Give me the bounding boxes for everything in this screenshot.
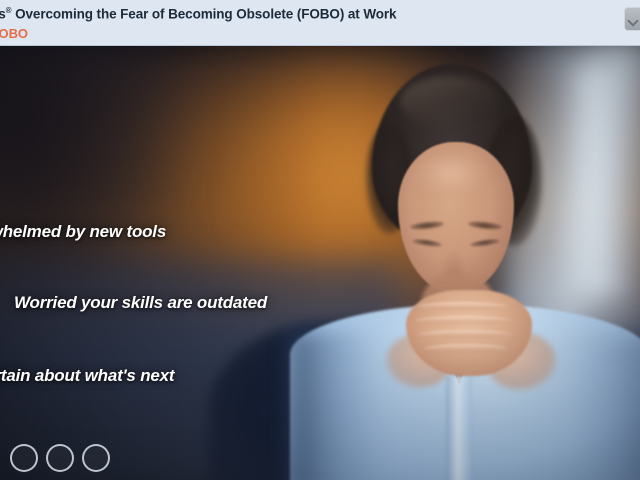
finger-row-1 [418, 302, 508, 311]
caption-overwhelmed: erwhelmed by new tools [0, 222, 166, 242]
forehead-highlight [416, 152, 486, 194]
finger-row-4 [424, 344, 508, 353]
page-title-rest: Overcoming the Fear of Becoming Obsolete… [11, 7, 396, 22]
hair-highlight [400, 76, 500, 128]
finger-row-3 [418, 330, 512, 339]
caption-skills-outdated: Worried your skills are outdated [14, 293, 267, 313]
slide-dot-2[interactable] [46, 444, 74, 472]
shirt-shadow-right [570, 332, 640, 480]
slide-dot-3[interactable] [82, 444, 110, 472]
header-action-button[interactable] [624, 7, 640, 31]
slide-indicator-dots [10, 444, 110, 472]
fobo-article-link[interactable]: Do About FOBO [0, 26, 28, 41]
person-photo [300, 46, 640, 480]
shirt-placket [446, 376, 472, 480]
video-player-screen: Briefs® Overcoming the Fear of Becoming … [0, 0, 640, 480]
slide-image: erwhelmed by new tools Worried your skil… [0, 46, 640, 480]
slide-dot-1[interactable] [10, 444, 38, 472]
chevron-down-icon [627, 15, 638, 26]
shirt-shadow-left [290, 332, 380, 480]
finger-row-2 [416, 316, 512, 325]
page-title: Briefs® Overcoming the Fear of Becoming … [0, 6, 396, 22]
caption-uncertain-next: certain about what's next [0, 366, 174, 386]
page-header: Briefs® Overcoming the Fear of Becoming … [0, 0, 640, 46]
